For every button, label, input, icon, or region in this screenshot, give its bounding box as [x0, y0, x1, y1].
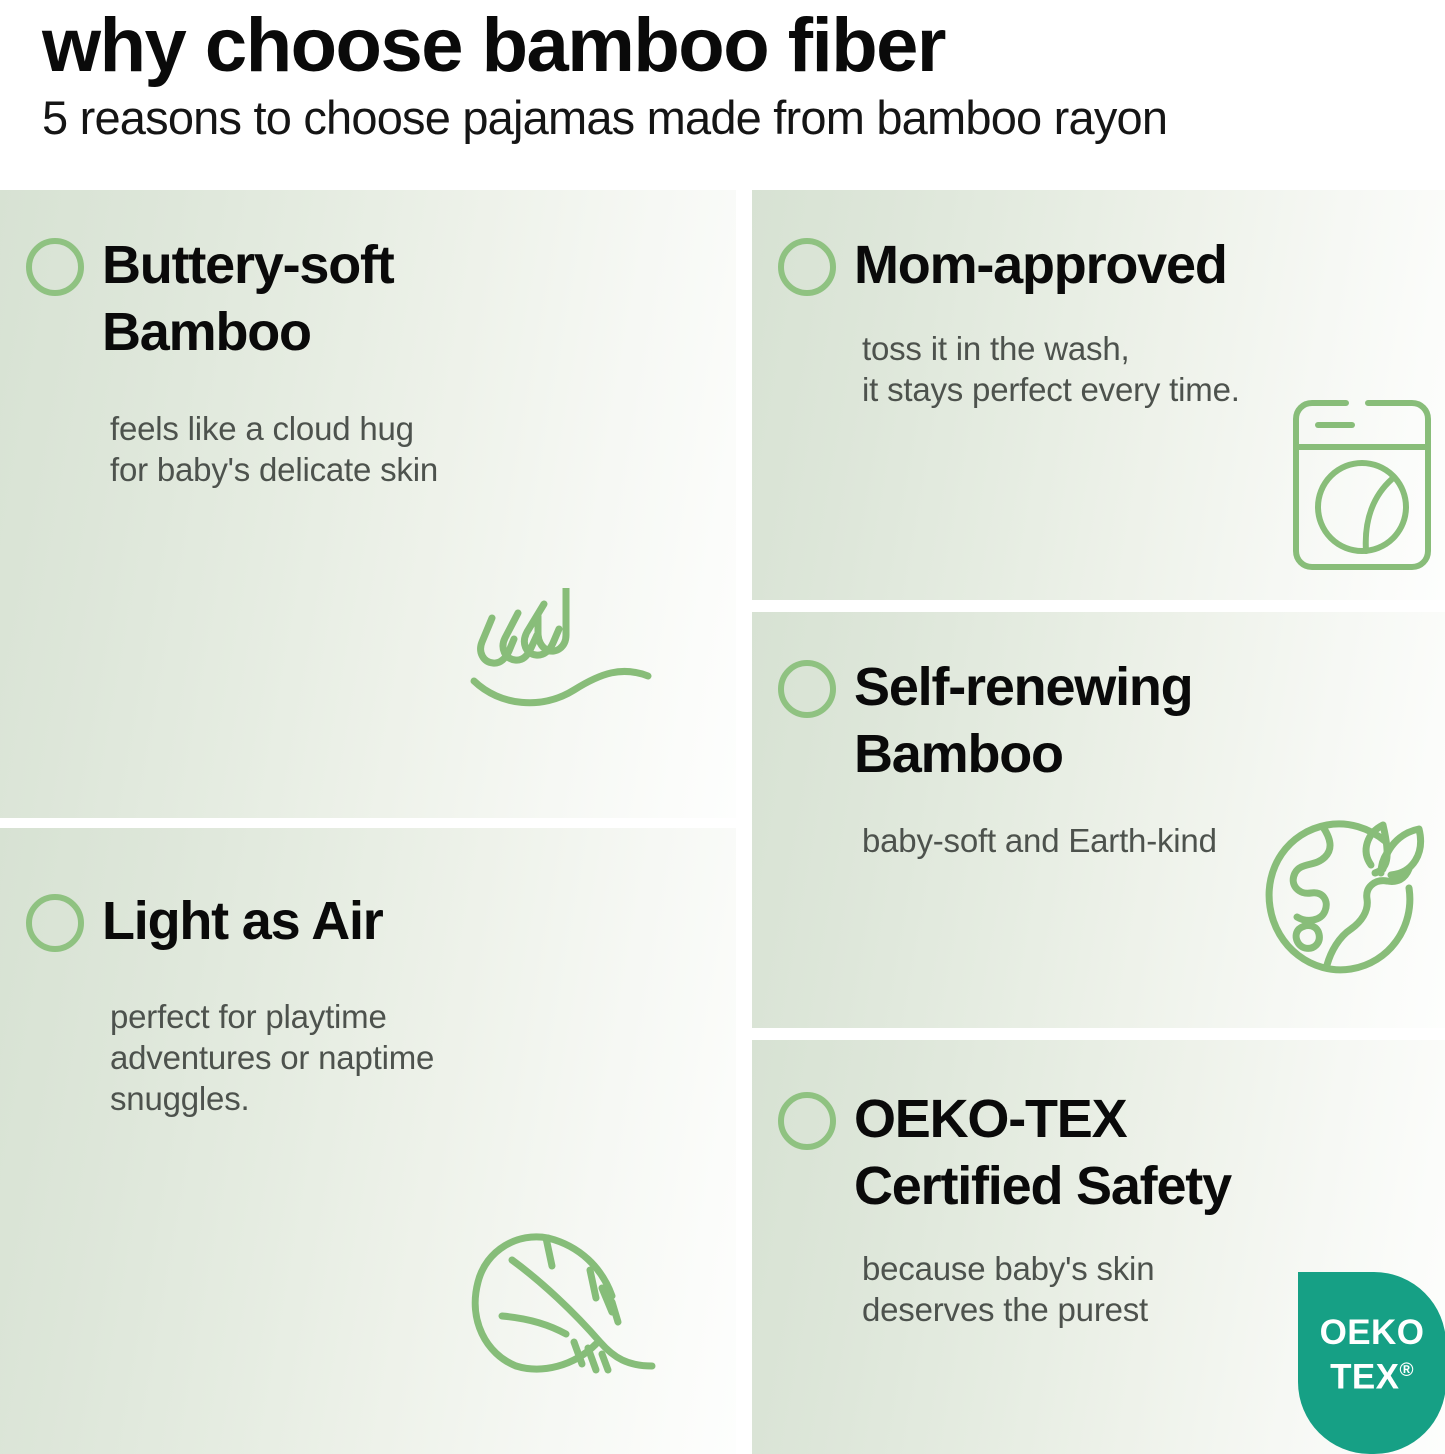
circle-bullet-icon: [26, 238, 84, 296]
page-title: why choose bamboo fiber: [42, 4, 1445, 88]
page-header: why choose bamboo fiber 5 reasons to cho…: [0, 0, 1445, 188]
card-body-text: feels like a cloud hug for baby's delica…: [110, 408, 438, 490]
registered-mark-icon: ®: [1399, 1360, 1413, 1381]
card-light-as-air: Light as Air perfect for playtime advent…: [0, 828, 736, 1454]
card-heading-row: Self-renewing Bamboo: [778, 654, 1192, 788]
card-heading-row: Buttery-soft Bamboo: [26, 232, 394, 366]
card-heading-row: OEKO-TEX Certified Safety: [778, 1086, 1231, 1220]
oeko-badge-line2: TEX®: [1330, 1352, 1414, 1397]
globe-leaf-icon: [1257, 807, 1442, 997]
hand-touch-icon: [470, 588, 710, 758]
oeko-badge-line1: OEKO: [1320, 1314, 1425, 1352]
washing-machine-icon: [1282, 395, 1442, 575]
card-oeko-tex-certified-safety: OEKO-TEX Certified Safety because baby's…: [752, 1040, 1445, 1454]
card-heading-row: Light as Air: [26, 888, 383, 955]
card-heading-row: Mom-approved: [778, 232, 1227, 299]
card-body-text: perfect for playtime adventures or napti…: [110, 996, 434, 1119]
circle-bullet-icon: [778, 238, 836, 296]
card-title: Light as Air: [102, 888, 383, 955]
feather-icon: [462, 1216, 722, 1416]
oeko-badge-tex-text: TEX: [1330, 1357, 1399, 1396]
card-title: Self-renewing Bamboo: [854, 654, 1192, 788]
card-title: OEKO-TEX Certified Safety: [854, 1086, 1231, 1220]
page-subtitle: 5 reasons to choose pajamas made from ba…: [42, 90, 1445, 146]
oeko-tex-badge-icon: OEKO TEX®: [1298, 1272, 1445, 1454]
card-title: Mom-approved: [854, 232, 1227, 299]
card-title: Buttery-soft Bamboo: [102, 232, 394, 366]
circle-bullet-icon: [778, 660, 836, 718]
card-buttery-soft-bamboo: Buttery-soft Bamboo feels like a cloud h…: [0, 190, 736, 818]
card-body-text: toss it in the wash, it stays perfect ev…: [862, 328, 1240, 410]
card-body-text: baby-soft and Earth-kind: [862, 820, 1217, 861]
card-mom-approved: Mom-approved toss it in the wash, it sta…: [752, 190, 1445, 600]
circle-bullet-icon: [26, 894, 84, 952]
circle-bullet-icon: [778, 1092, 836, 1150]
card-self-renewing-bamboo: Self-renewing Bamboo baby-soft and Earth…: [752, 612, 1445, 1028]
card-body-text: because baby's skin deserves the purest: [862, 1248, 1154, 1330]
